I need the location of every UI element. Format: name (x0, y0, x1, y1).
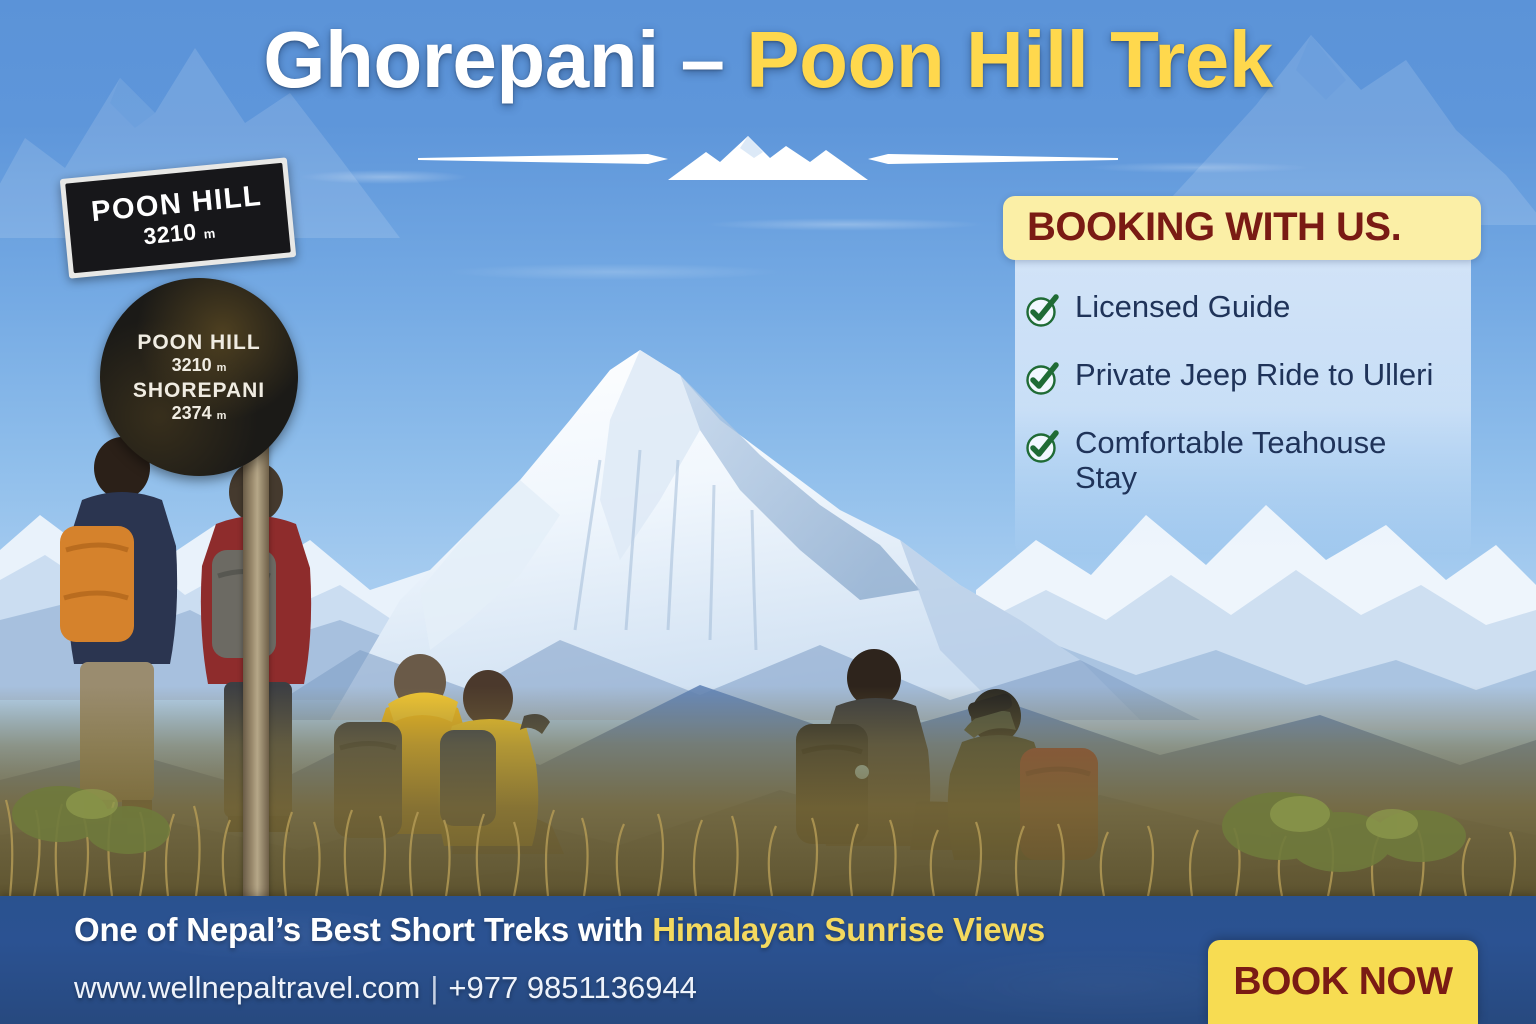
page-title: Ghorepani – Poon Hill Trek (0, 18, 1536, 102)
booking-heading-badge: BOOKING WITH US. (1003, 196, 1481, 260)
title-part-white: Ghorepani – (263, 15, 746, 104)
rect-sign-altitude: 3210 (142, 218, 197, 249)
benefit-label: Comfortable Teahouse Stay (1075, 426, 1435, 495)
signpost: POON HILL 3210 m POON HILL 3210 m SHOREP… (58, 160, 358, 760)
circle-sign-line2: 3210 (172, 355, 212, 375)
book-now-button[interactable]: BOOK NOW (1208, 940, 1478, 1024)
circle-sign-line3: SHOREPANI (133, 379, 265, 403)
phone-number[interactable]: +977 9851136944 (448, 970, 697, 1005)
book-now-label: BOOK NOW (1233, 960, 1452, 1004)
list-item: Licensed Guide (1025, 290, 1481, 328)
footer-bar: One of Nepal’s Best Short Treks with Him… (0, 896, 1536, 1024)
website-link[interactable]: www.wellnepaltravel.com (74, 970, 420, 1005)
check-circle-icon (1025, 294, 1059, 328)
footer-tagline: One of Nepal’s Best Short Treks with Him… (74, 911, 1045, 949)
tagline-white: One of Nepal’s Best Short Treks with (74, 911, 652, 948)
tagline-yellow: Himalayan Sunrise Views (652, 911, 1045, 948)
circle-sign-line1: POON HILL (137, 331, 260, 355)
contact-separator: | (420, 970, 448, 1005)
circle-sign-line4-unit: m (217, 410, 227, 422)
benefit-label: Private Jeep Ride to Ulleri (1075, 358, 1433, 393)
list-item: Private Jeep Ride to Ulleri (1025, 358, 1481, 396)
check-circle-icon (1025, 362, 1059, 396)
rect-sign-unit: m (203, 225, 216, 241)
check-circle-icon (1025, 430, 1059, 464)
booking-heading-text: BOOKING WITH US. (1027, 207, 1461, 247)
title-part-yellow: Poon Hill Trek (746, 15, 1272, 104)
poon-hill-circle-sign: POON HILL 3210 m SHOREPANI 2374 m (100, 278, 298, 476)
circle-sign-line2-unit: m (217, 362, 227, 374)
booking-benefits-list: Licensed Guide Private Jeep Ride to Ulle… (1003, 290, 1481, 495)
circle-sign-line4: 2374 (172, 403, 212, 423)
poster-root: POON HILL 3210 m POON HILL 3210 m SHOREP… (0, 0, 1536, 1024)
list-item: Comfortable Teahouse Stay (1025, 426, 1481, 495)
footer-contact: www.wellnepaltravel.com|+977 9851136944 (74, 970, 697, 1006)
booking-panel: BOOKING WITH US. Licensed Guide (1003, 196, 1481, 525)
benefit-label: Licensed Guide (1075, 290, 1290, 325)
mountain-divider-icon (0, 128, 1536, 190)
